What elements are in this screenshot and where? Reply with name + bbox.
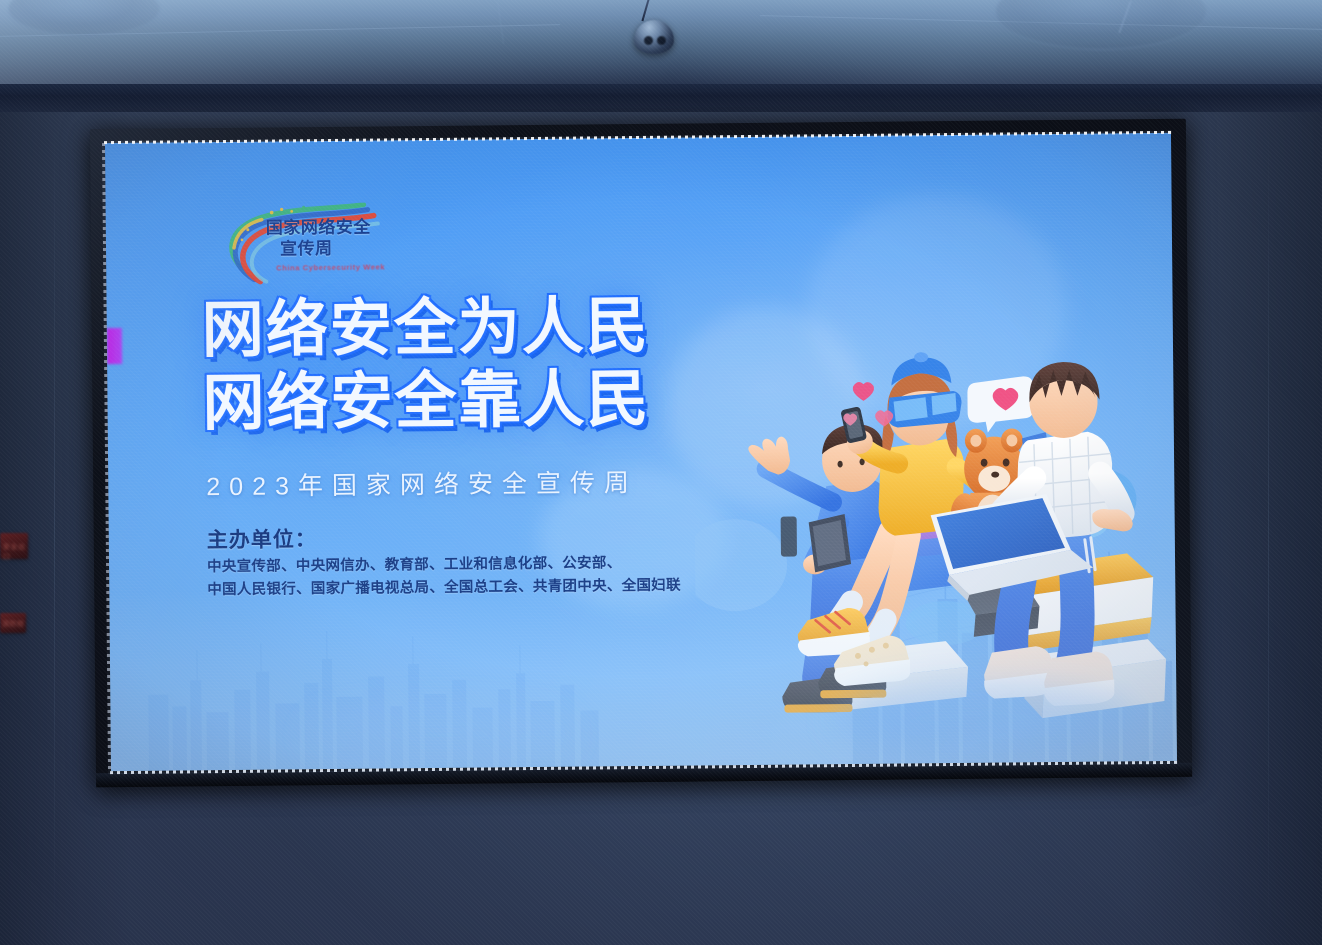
heart-speech-bubble: [967, 376, 1034, 433]
room-scene: 安全出口 消防栓: [0, 0, 1322, 945]
camera-lens: [644, 36, 653, 45]
ceiling-edge-band: [0, 84, 1322, 114]
wall-sign-upper: 安全出口: [0, 533, 28, 559]
camera-stem: [641, 0, 650, 21]
wall-sign-upper-label: 安全出口: [3, 542, 28, 562]
floating-hearts: [843, 382, 893, 427]
led-video-wall[interactable]: 国家网络安全 宣传周 China Cybersecurity Week 网络安全…: [90, 119, 1192, 787]
display-screen[interactable]: 国家网络安全 宣传周 China Cybersecurity Week 网络安全…: [105, 133, 1177, 771]
camera-dome: [634, 20, 674, 54]
wall-sign-lower: 消防栓: [0, 613, 26, 633]
magenta-edge-artifact: [107, 328, 122, 364]
camera-lens: [657, 36, 666, 45]
wall-sign-lower-label: 消防栓: [2, 619, 25, 629]
headline-line-2: 网络安全靠人民: [202, 363, 651, 440]
logo-english-subtitle: China Cybersecurity Week: [276, 262, 385, 272]
logo-line2: 宣传周: [280, 240, 333, 259]
small-device: [781, 517, 797, 557]
organizers-title: 主办单位：: [207, 520, 681, 555]
logo-line1: 国家网络安全: [266, 219, 371, 238]
dome-security-camera: [612, 0, 702, 70]
headline-line-1: 网络安全为人民: [201, 290, 650, 367]
poster-headline: 网络安全为人民 网络安全靠人民: [201, 290, 650, 441]
poster-subtitle: 2023年国家网络安全宣传周: [206, 463, 638, 503]
cybersecurity-week-logo: 国家网络安全 宣传周 China Cybersecurity Week: [218, 202, 391, 286]
